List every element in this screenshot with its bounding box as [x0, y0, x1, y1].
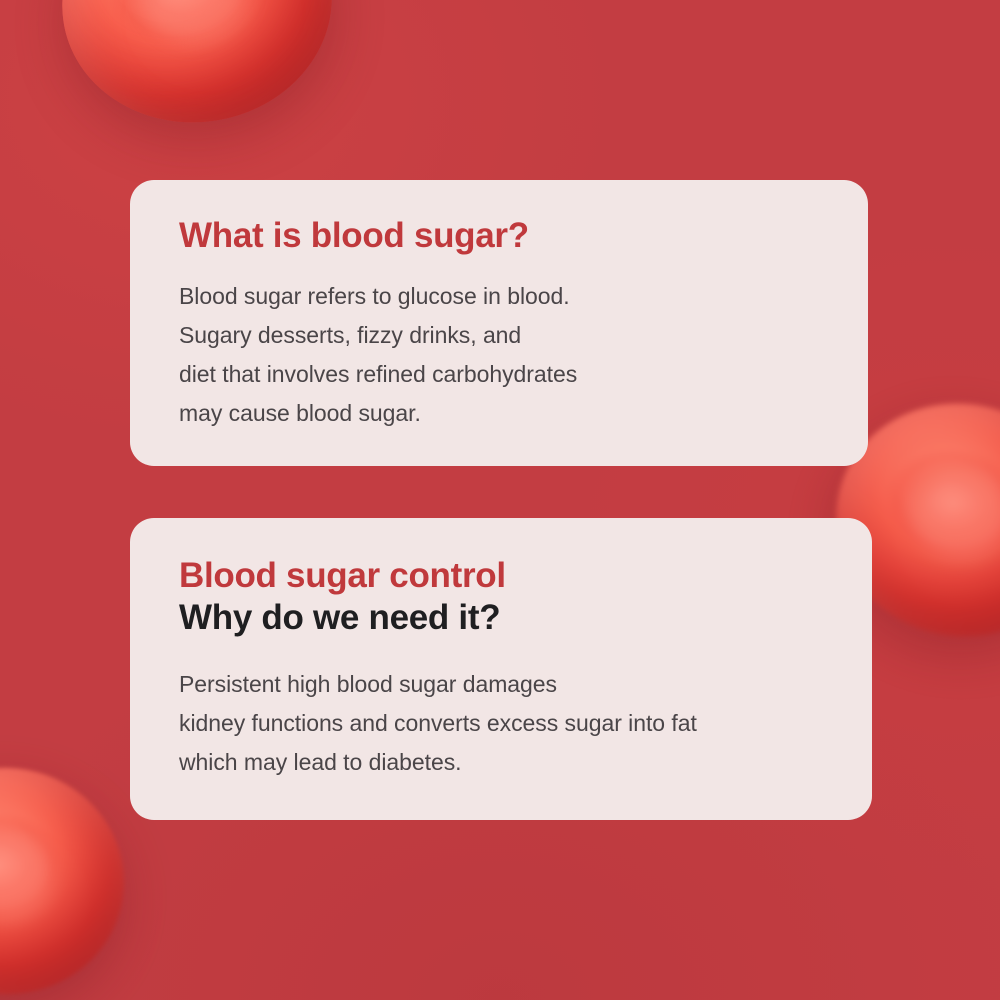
card-what-is-blood-sugar: What is blood sugar? Blood sugar refers … [130, 180, 868, 466]
body-line: Sugary desserts, fizzy drinks, and [179, 316, 820, 355]
body-line: diet that involves refined carbohydrates [179, 355, 820, 394]
card-blood-sugar-control: Blood sugar control Why do we need it? P… [130, 518, 872, 820]
red-blood-cell-icon-top-left [47, 0, 348, 140]
body-line: Persistent high blood sugar damages [179, 665, 824, 704]
card-heading-what-is-blood-sugar: What is blood sugar? [179, 216, 820, 255]
body-line: Blood sugar refers to glucose in blood. [179, 277, 820, 316]
card-body-blood-sugar-control: Persistent high blood sugar damages kidn… [179, 665, 824, 782]
red-blood-cell-icon-bottom-left [0, 756, 135, 1000]
body-line: kidney functions and converts excess sug… [179, 704, 824, 743]
card-heading-blood-sugar-control: Blood sugar control [179, 556, 824, 595]
card-body-what-is-blood-sugar: Blood sugar refers to glucose in blood. … [179, 277, 820, 433]
card-subheading-why-do-we-need-it: Why do we need it? [179, 597, 824, 638]
infographic-poster: What is blood sugar? Blood sugar refers … [0, 0, 1000, 1000]
body-line: which may lead to diabetes. [179, 743, 824, 782]
body-line: may cause blood sugar. [179, 394, 820, 433]
